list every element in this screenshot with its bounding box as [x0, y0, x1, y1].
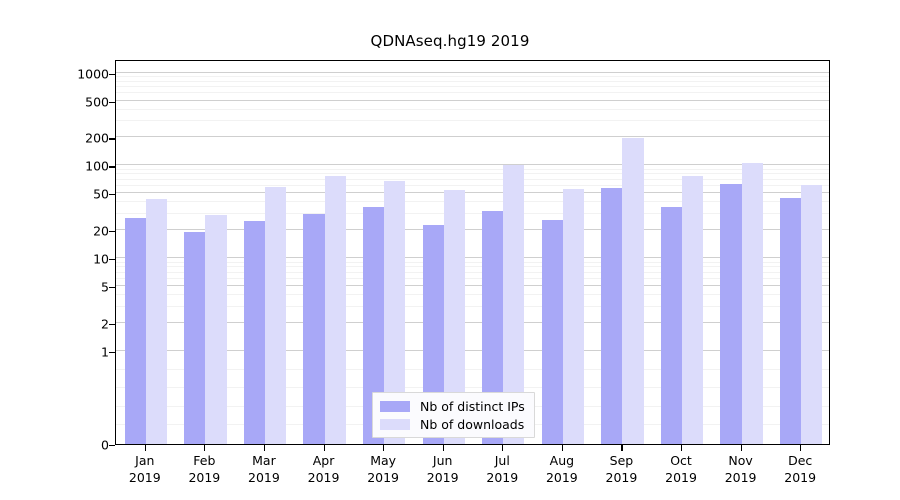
bar-downloads: [801, 185, 822, 444]
chart-title: QDNAseq.hg19 2019: [0, 32, 900, 50]
y-tick-label: 10: [93, 252, 109, 267]
x-tick-label: Dec 2019: [770, 452, 830, 486]
bar-distinct-ips: [303, 214, 324, 444]
x-tick-mark: [264, 445, 265, 451]
y-tick-label: 1000: [77, 66, 109, 81]
gridline-major: [116, 100, 829, 101]
x-tick-mark: [145, 445, 146, 451]
legend-item-downloads: Nb of downloads: [380, 415, 525, 433]
x-tick-label: Apr 2019: [294, 452, 354, 486]
legend-label-downloads: Nb of downloads: [420, 417, 524, 432]
gridline-minor: [116, 120, 829, 121]
y-tick-mark: [109, 138, 115, 139]
bar-distinct-ips: [125, 218, 146, 444]
y-tick-mark: [109, 74, 115, 75]
bar-downloads: [325, 176, 346, 444]
bar-downloads: [563, 189, 584, 444]
y-tick-label: 5: [101, 280, 109, 295]
bar-distinct-ips: [780, 198, 801, 444]
legend-swatch-distinct-ips: [380, 401, 410, 412]
y-tick-label: 50: [93, 187, 109, 202]
bar-downloads: [622, 138, 643, 444]
gridline-minor: [116, 109, 829, 110]
y-tick-mark: [109, 352, 115, 353]
x-tick-label: Jan 2019: [115, 452, 175, 486]
y-tick-label: 2: [101, 317, 109, 332]
bar-distinct-ips: [601, 188, 622, 444]
gridline-minor: [116, 86, 829, 87]
plot-area: [115, 60, 830, 445]
y-tick-mark: [109, 231, 115, 232]
y-tick-mark: [109, 102, 115, 103]
gridline-major: [116, 72, 829, 73]
x-tick-mark: [562, 445, 563, 451]
y-tick-label: 500: [85, 94, 109, 109]
chart-figure: QDNAseq.hg19 2019 Nb of distinct IPs Nb …: [0, 0, 900, 500]
x-tick-mark: [324, 445, 325, 451]
gridline-major: [116, 164, 829, 165]
x-tick-label: Nov 2019: [711, 452, 771, 486]
y-tick-mark: [109, 445, 115, 446]
y-tick-mark: [109, 287, 115, 288]
y-tick-mark: [109, 194, 115, 195]
y-tick-mark: [109, 259, 115, 260]
gridline-minor: [116, 179, 829, 180]
gridline-minor: [116, 173, 829, 174]
y-tick-mark: [109, 324, 115, 325]
bar-distinct-ips: [542, 220, 563, 444]
bar-distinct-ips: [720, 184, 741, 444]
x-tick-mark: [502, 445, 503, 451]
legend-swatch-downloads: [380, 419, 410, 430]
x-tick-label: Feb 2019: [175, 452, 235, 486]
gridline-minor: [116, 169, 829, 170]
y-tick-mark: [109, 166, 115, 167]
x-tick-mark: [383, 445, 384, 451]
legend-label-distinct-ips: Nb of distinct IPs: [420, 399, 525, 414]
x-tick-mark: [800, 445, 801, 451]
gridline-minor: [116, 81, 829, 82]
x-tick-mark: [621, 445, 622, 451]
x-tick-label: Oct 2019: [651, 452, 711, 486]
bar-downloads: [682, 176, 703, 444]
y-tick-label: 0: [101, 438, 109, 453]
y-tick-label: 100: [85, 159, 109, 174]
bar-downloads: [205, 215, 226, 444]
x-tick-label: Mar 2019: [234, 452, 294, 486]
x-tick-mark: [204, 445, 205, 451]
gridline-minor: [116, 76, 829, 77]
bar-distinct-ips: [244, 221, 265, 444]
bar-downloads: [265, 187, 286, 444]
gridline-minor: [116, 92, 829, 93]
gridline-major: [116, 136, 829, 137]
y-tick-label: 20: [93, 224, 109, 239]
bar-downloads: [742, 163, 763, 444]
x-tick-mark: [443, 445, 444, 451]
y-tick-label: 1: [101, 345, 109, 360]
x-tick-label: Jun 2019: [413, 452, 473, 486]
bar-distinct-ips: [184, 232, 205, 444]
bar-distinct-ips: [661, 207, 682, 444]
y-tick-label: 200: [85, 131, 109, 146]
x-tick-mark: [741, 445, 742, 451]
chart-legend: Nb of distinct IPs Nb of downloads: [372, 392, 535, 438]
legend-item-distinct-ips: Nb of distinct IPs: [380, 397, 525, 415]
x-tick-label: Aug 2019: [532, 452, 592, 486]
bar-downloads: [146, 199, 167, 444]
x-tick-label: Sep 2019: [592, 452, 652, 486]
x-tick-label: May 2019: [353, 452, 413, 486]
x-tick-label: Jul 2019: [473, 452, 533, 486]
x-tick-mark: [681, 445, 682, 451]
